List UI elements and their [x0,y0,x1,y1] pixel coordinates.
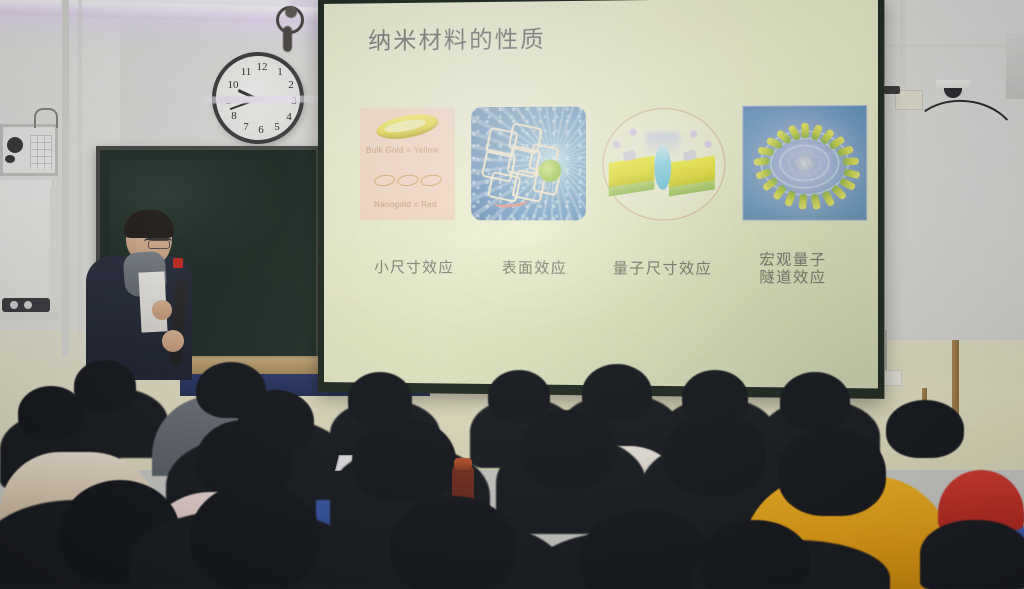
slide-captions: 小尺寸效应 表面效应 量子尺寸效应 宏观量子 隧道效应 [360,250,878,306]
audience-head-front [60,480,180,584]
caption-quantum-size-effect: 量子尺寸效应 [613,261,712,279]
clock-numeral: 2 [284,79,298,91]
audience-pink-coat [140,492,330,589]
slide-image-panels: Bulk Gold = Yellow Nanogold = Red [360,105,867,227]
seat-back [270,470,430,530]
quantum-dot-icon [654,145,671,190]
wooden-strip-2 [922,388,927,446]
microphone-red-indicator [173,258,183,268]
switch-cord [885,330,887,370]
caption-macroscopic-quantum-tunneling: 宏观量子 隧道效应 [751,252,836,287]
quantum-size-panel [600,106,725,221]
lecture-hall-photo: 12 1 2 3 4 5 6 7 8 9 10 11 纳米材料的性质 [0,0,1024,589]
substrate-slab-left [609,156,655,190]
clock-numeral: 1 [273,66,287,78]
clock-numeral: 4 [282,111,296,123]
nanogold-ovals-icon [374,172,443,188]
presenter-hair [124,210,174,238]
right-wall-box [1006,33,1024,99]
presenter-hand-upper [152,300,172,320]
projection-screen-frame: 纳米材料的性质 Bulk Gold = Yellow Nanogold = Re… [318,0,884,399]
audience-red-hat [938,470,1024,530]
wall-shelf [0,312,58,320]
projection-screen: 纳米材料的性质 Bulk Gold = Yellow Nanogold = Re… [324,0,878,388]
wall-device [2,298,50,312]
audience-torso-front [130,510,360,589]
poster-hook-icon [34,108,58,128]
wall-plug [884,86,900,94]
audience-head-front [700,520,810,589]
seat-back [0,530,120,580]
conduit-pipe-left-2 [78,0,82,340]
clock-numeral: 5 [270,121,284,133]
framed-poster [0,124,58,176]
clock-numeral: 11 [239,66,253,78]
stm-noise-texture [743,106,866,220]
audience-head-front [190,482,320,589]
fullerene-panel [471,107,586,221]
audience-head-front [580,510,710,589]
clock-numeral: 6 [254,124,268,136]
nanogold-label: Nanogold = Red [374,200,437,209]
gold-nanoparticle-panel: Bulk Gold = Yellow Nanogold = Red [360,107,455,220]
clock-numeral: 12 [255,61,269,73]
clock-light-reflection [200,95,320,103]
audience-torso-front [530,530,750,589]
seat-back [526,468,676,524]
caption-small-size-effect: 小尺寸效应 [374,260,454,277]
audience-torso-front [690,540,890,589]
slide-title: 纳米材料的性质 [368,20,546,56]
clock-numeral: 8 [227,110,241,122]
audience-torso-front [330,520,560,589]
projector-mount-rod [283,26,292,52]
audience-torso [920,520,1024,589]
green-molecule-icon [539,159,562,181]
wall-fixture-dot [285,6,297,18]
caption-surface-effect: 表面效应 [502,261,567,279]
conduit-pipe-left [62,0,69,356]
quantum-corral-panel [742,105,867,221]
seat-top-rail [938,512,1024,522]
caption-line-1: 宏观量子 [751,252,836,270]
substrate-slab-right [669,156,715,190]
audience-yellow-coat [742,476,952,589]
presenter-glasses-icon [144,238,172,248]
clock-numeral: 7 [239,121,253,133]
caption-line-2: 隧道效应 [751,270,836,288]
audience-silver-coat [830,500,960,580]
wall-white-panel [0,180,53,300]
conduit-pipe-right-horizontal [870,44,1020,47]
audience-head-front [390,496,516,589]
seat-back [940,516,1024,556]
conduit-pipe-right [900,0,905,330]
audience-torso-front [0,500,180,589]
gold-ring-icon [375,110,440,143]
presenter-hand-lower [162,330,184,352]
bulk-gold-label: Bulk Gold = Yellow [366,146,439,155]
wooden-strip [952,340,959,432]
wall-panel-edge [50,186,57,302]
thermos-bottle [452,466,474,532]
